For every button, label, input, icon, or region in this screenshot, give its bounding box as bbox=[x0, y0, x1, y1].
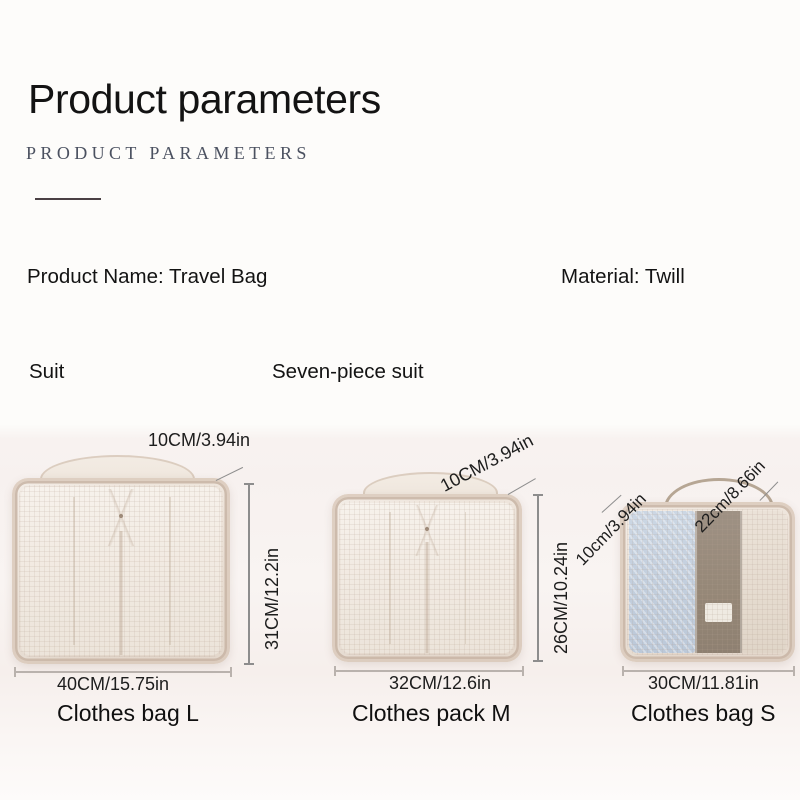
dimension-height-large: 31CM/12.2in bbox=[262, 548, 283, 650]
leader-line-depth-medium bbox=[508, 478, 536, 495]
shirt-fold-line bbox=[389, 512, 391, 644]
shirt-fold-line bbox=[465, 512, 467, 644]
shirt-button-large bbox=[119, 514, 123, 518]
dimension-line-width-medium bbox=[334, 670, 524, 672]
shirt-button-medium bbox=[425, 527, 429, 531]
dimension-depth-large: 10CM/3.94in bbox=[148, 430, 250, 451]
dimension-line-width-large bbox=[14, 671, 232, 673]
folded-shirt-large bbox=[21, 487, 221, 655]
dimension-width-medium: 32CM/12.6in bbox=[389, 673, 491, 694]
product-size-diagram: 10CM/3.94in 31CM/12.2in 40CM/15.75in Clo… bbox=[0, 0, 800, 800]
leader-line-depth-large bbox=[216, 467, 244, 481]
dimension-width-small: 30CM/11.81in bbox=[648, 673, 759, 694]
folded-shirt-medium bbox=[341, 503, 513, 653]
dimension-height-medium: 26CM/10.24in bbox=[551, 542, 572, 654]
shirt-fold-line bbox=[73, 497, 75, 645]
packed-item-blue bbox=[629, 511, 695, 653]
product-caption-small: Clothes bag S bbox=[631, 700, 775, 727]
bag-body-medium bbox=[332, 494, 522, 662]
product-caption-large: Clothes bag L bbox=[57, 700, 199, 727]
dimension-line-height-medium bbox=[537, 494, 539, 662]
dimension-width-large: 40CM/15.75in bbox=[57, 674, 169, 695]
packed-item-cream bbox=[742, 511, 786, 653]
fabric-label-tag bbox=[705, 603, 731, 621]
bag-body-large bbox=[12, 478, 230, 664]
shirt-fold-line bbox=[169, 497, 171, 645]
dimension-line-height-large bbox=[248, 483, 250, 665]
dimension-line-width-small bbox=[622, 670, 795, 672]
product-caption-medium: Clothes pack M bbox=[352, 700, 511, 727]
